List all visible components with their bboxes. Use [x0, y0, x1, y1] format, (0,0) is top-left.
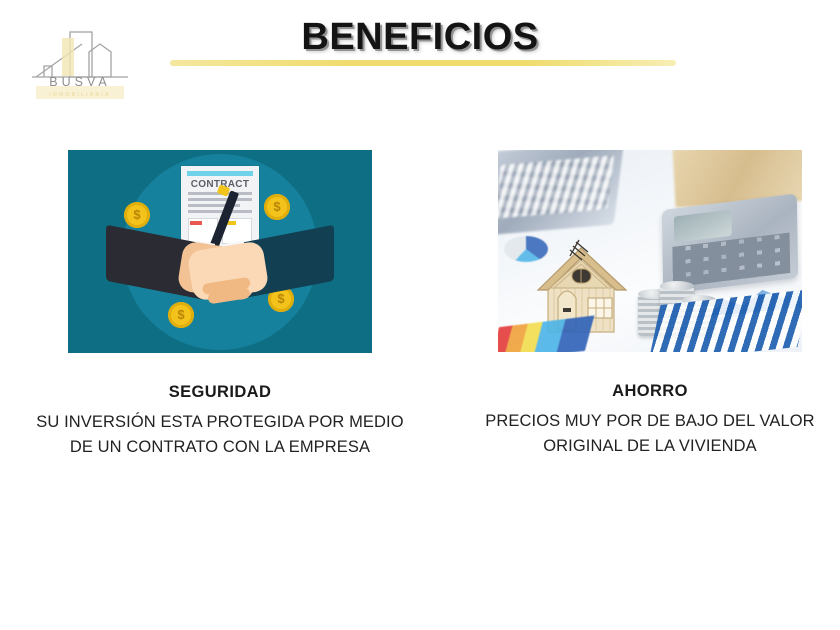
benefit-column-seguridad: $ $ $ $ CONTRACT [32, 150, 408, 460]
contract-text-line [188, 198, 252, 201]
laptop-keyboard [498, 155, 614, 219]
title-underline-rule [170, 60, 676, 66]
benefit-heading: SEGURIDAD [32, 383, 408, 402]
benefit-body: SU INVERSIÓN ESTA PROTEGIDA POR MEDIO DE… [32, 410, 408, 460]
slide-canvas: BUSVA INMOBILIARIA BENEFICIOS $ $ $ $ CO… [0, 0, 840, 630]
benefit-heading: AHORRO [462, 382, 838, 401]
handshake-contract-illustration: $ $ $ $ CONTRACT [68, 150, 372, 353]
contract-text-line [188, 210, 252, 213]
logo-wordmark: BUSVA [26, 75, 134, 89]
logo-tagline: INMOBILIARIA [26, 92, 134, 98]
coin-icon: $ [264, 194, 290, 220]
coin-top [660, 281, 694, 291]
laptop-icon [498, 150, 624, 235]
benefit-body: PRECIOS MUY POR DE BAJO DEL VALOR ORIGIN… [462, 409, 838, 459]
calculator-screen [674, 210, 732, 243]
coin-icon: $ [168, 302, 194, 328]
contract-header-band [187, 171, 253, 176]
house-model-coins-calculator-photo [498, 150, 802, 352]
coin-icon: $ [124, 202, 150, 228]
page-title: BENEFICIOS [0, 16, 840, 59]
contract-tag [190, 221, 202, 225]
benefit-column-ahorro: AHORRO PRECIOS MUY POR DE BAJO DEL VALOR… [462, 150, 838, 459]
